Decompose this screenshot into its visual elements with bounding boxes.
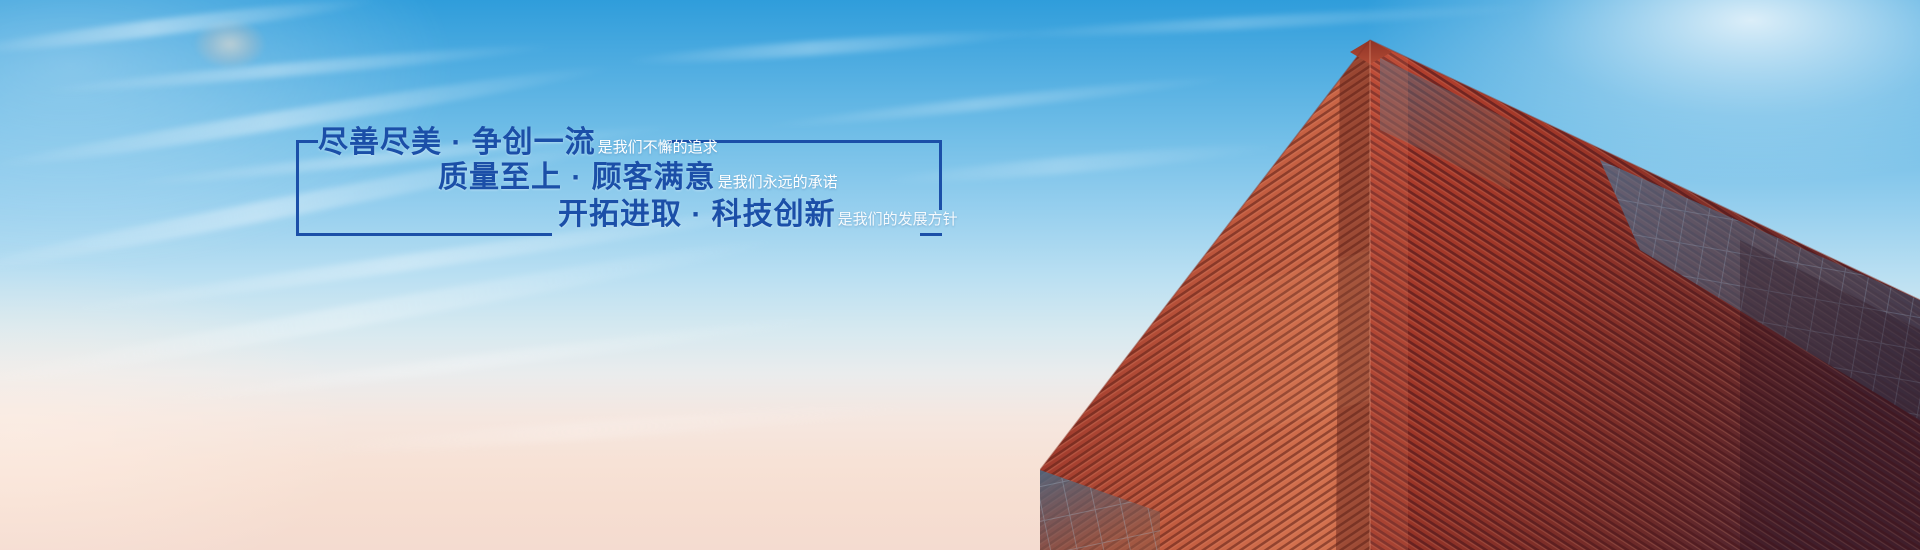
slogan-1-sub: 是我们不懈的追求 [598, 140, 718, 155]
slogan-3-main: 开拓进取 · 科技创新 [558, 200, 836, 230]
cloud-streak [0, 0, 379, 60]
building-photo [1040, 0, 1920, 550]
slogan-1-main: 尽善尽美 · 争创一流 [318, 128, 596, 158]
slogan-3-sub: 是我们的发展方针 [838, 212, 958, 227]
cloud-streak [300, 398, 920, 459]
slogan-line-3: 开拓进取 · 科技创新 是我们的发展方针 [558, 200, 958, 230]
slogan-line-1: 尽善尽美 · 争创一流 是我们不懈的追求 [318, 128, 718, 158]
building-svg [1040, 0, 1920, 550]
slogan-2-main: 质量至上 · 顾客满意 [438, 163, 716, 193]
slogan-line-2: 质量至上 · 顾客满意 是我们永远的承诺 [438, 163, 838, 193]
slogan-block: 尽善尽美 · 争创一流 是我们不懈的追求 质量至上 · 顾客满意 是我们永远的承… [296, 140, 942, 236]
cloud-streak [620, 25, 1040, 68]
hero-banner: 尽善尽美 · 争创一流 是我们不懈的追求 质量至上 · 顾客满意 是我们永远的承… [0, 0, 1920, 550]
slogan-lines: 尽善尽美 · 争创一流 是我们不懈的追求 质量至上 · 顾客满意 是我们永远的承… [296, 140, 942, 236]
slogan-2-sub: 是我们永远的承诺 [718, 175, 838, 190]
